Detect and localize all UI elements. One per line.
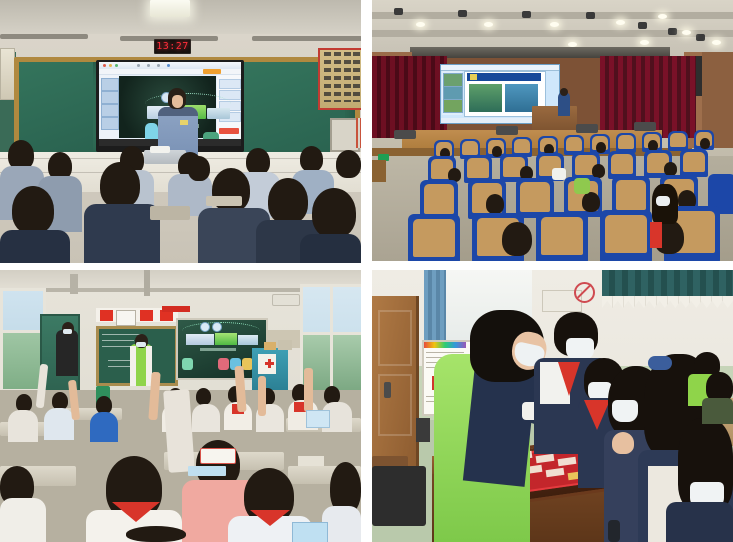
slide-subtitle bbox=[200, 348, 236, 351]
clock-value: 13:27 bbox=[156, 41, 189, 52]
banner-character bbox=[140, 310, 153, 321]
student-body bbox=[702, 398, 733, 424]
audience-head bbox=[664, 162, 677, 176]
side-table bbox=[372, 160, 386, 182]
face-mask bbox=[63, 329, 72, 334]
student-head-foreground bbox=[312, 188, 356, 238]
poster-color-bar bbox=[424, 342, 466, 348]
stage-monitor-speaker bbox=[576, 124, 598, 133]
student-body-foreground bbox=[666, 502, 733, 542]
panel-item[interactable] bbox=[219, 79, 241, 89]
seat-back bbox=[683, 152, 705, 172]
slide-thumbnail[interactable] bbox=[443, 73, 463, 87]
stage-monitor-speaker bbox=[634, 122, 656, 131]
papers-on-desk bbox=[150, 146, 170, 153]
student-body-foreground bbox=[0, 230, 70, 263]
student-hand bbox=[612, 432, 634, 454]
seat-back bbox=[467, 158, 489, 178]
chalk-writing bbox=[102, 334, 142, 335]
ceiling-light bbox=[150, 0, 190, 17]
student-head bbox=[336, 150, 361, 178]
photo-primary-classroom-hands-raised[interactable] bbox=[0, 270, 361, 542]
auditorium-scene bbox=[372, 0, 733, 261]
wall-rail-left bbox=[0, 34, 88, 39]
ceiling-speaker bbox=[638, 22, 647, 29]
student-head bbox=[188, 156, 210, 181]
leaflet bbox=[188, 466, 226, 476]
pupil-body bbox=[8, 410, 38, 442]
ceiling-band bbox=[372, 30, 733, 37]
student-head bbox=[300, 146, 323, 172]
audience-head bbox=[486, 194, 504, 214]
ceiling-speaker bbox=[458, 10, 467, 17]
face-mask bbox=[566, 338, 594, 360]
leaflet bbox=[306, 410, 330, 428]
student-body-foreground bbox=[84, 204, 160, 263]
photo-grid-page: 13:27 bbox=[0, 0, 733, 542]
wall-rail-right bbox=[252, 36, 361, 41]
pupil-body bbox=[44, 408, 74, 440]
red-scarf bbox=[650, 222, 662, 248]
window-dot-close bbox=[103, 64, 106, 67]
leaflet bbox=[292, 522, 328, 542]
taskbar-icon[interactable] bbox=[167, 64, 170, 67]
ceiling-speaker bbox=[394, 8, 403, 15]
face-mask bbox=[656, 196, 670, 206]
slide-thumbnail[interactable] bbox=[443, 99, 463, 113]
slide-thumbnail[interactable] bbox=[101, 78, 119, 91]
window-dot-min bbox=[109, 64, 112, 67]
emblem-icon bbox=[200, 322, 210, 332]
ceiling-band bbox=[372, 12, 733, 19]
ceiling-downlight bbox=[416, 22, 425, 27]
ceiling-downlight bbox=[658, 14, 667, 19]
student-head-foreground bbox=[100, 162, 140, 208]
student-body-foreground bbox=[300, 234, 361, 263]
emblem-icon bbox=[212, 322, 222, 332]
seat-back bbox=[611, 154, 633, 174]
photo-auditorium-assembly[interactable] bbox=[372, 0, 733, 261]
seat-back bbox=[462, 141, 478, 155]
taskbar-icon[interactable] bbox=[147, 64, 150, 67]
window-curtain-right bbox=[602, 270, 733, 298]
slide-figure bbox=[218, 358, 229, 370]
pupil-head bbox=[196, 388, 211, 405]
ceiling-fitting bbox=[70, 274, 78, 294]
ceiling-speaker bbox=[668, 28, 677, 35]
poster-text-column bbox=[344, 52, 351, 102]
banner-character bbox=[100, 310, 113, 321]
ceiling-downlight bbox=[682, 30, 691, 35]
slide-title-part3 bbox=[207, 108, 230, 119]
raised-arm bbox=[304, 368, 313, 412]
primary-action-button[interactable] bbox=[219, 128, 239, 134]
classroom-scene: 13:27 bbox=[0, 0, 361, 263]
student-head-foreground bbox=[12, 186, 54, 234]
digital-wall-clock: 13:27 bbox=[154, 39, 191, 54]
seat-back bbox=[541, 217, 583, 255]
slide-photo-left bbox=[469, 84, 502, 112]
toolbar-action-button[interactable] bbox=[203, 69, 221, 74]
taskbar-icon[interactable] bbox=[137, 64, 140, 67]
ceiling-speaker bbox=[696, 34, 705, 41]
microphone bbox=[608, 520, 620, 542]
ceiling-projector bbox=[272, 294, 300, 306]
photo-display-case-demonstration[interactable] bbox=[372, 270, 733, 542]
ceiling-downlight bbox=[484, 22, 493, 27]
wall-wiring bbox=[356, 118, 361, 148]
wall-notice bbox=[116, 310, 136, 326]
slide-thumbnail[interactable] bbox=[101, 91, 119, 104]
slide-thumbnail[interactable] bbox=[101, 117, 119, 130]
slide-title-part3 bbox=[238, 335, 258, 345]
ceiling-speaker bbox=[522, 11, 531, 18]
waste-bin bbox=[416, 418, 430, 442]
seat-back bbox=[514, 139, 530, 153]
pencil-case bbox=[200, 448, 236, 464]
slide-title-part1 bbox=[186, 334, 214, 345]
face-mask bbox=[136, 342, 146, 347]
audience-head bbox=[582, 192, 600, 212]
pupil-body bbox=[192, 404, 220, 432]
audience-shirt bbox=[574, 178, 590, 194]
uniform-badge bbox=[180, 120, 188, 125]
ceiling-downlight bbox=[640, 40, 649, 45]
first-aid-cross-icon bbox=[268, 359, 271, 368]
chair bbox=[372, 466, 426, 526]
audience-shirt bbox=[552, 168, 566, 180]
seat-back bbox=[616, 180, 646, 210]
slide-figure bbox=[182, 358, 193, 370]
banner-strip bbox=[162, 306, 190, 312]
slide-thumbnail[interactable] bbox=[443, 86, 463, 100]
no-smoking-icon bbox=[574, 282, 595, 303]
chalk-writing bbox=[102, 340, 134, 341]
volunteer-sleeve bbox=[130, 346, 136, 386]
seat-back bbox=[424, 184, 454, 214]
audience-head bbox=[592, 164, 605, 178]
student-desk bbox=[150, 206, 190, 220]
ceiling-downlight bbox=[616, 20, 625, 25]
ceiling-downlight bbox=[550, 22, 559, 27]
police-officer-face bbox=[172, 95, 183, 108]
hair-tie bbox=[648, 356, 672, 370]
slide-title-part2 bbox=[215, 333, 237, 345]
taskbar-icon[interactable] bbox=[157, 64, 160, 67]
raised-arm bbox=[258, 376, 266, 416]
storage-box bbox=[264, 342, 276, 350]
poster-text-column bbox=[334, 52, 341, 102]
ceiling-speaker bbox=[586, 12, 595, 19]
primary-classroom-scene bbox=[0, 270, 361, 542]
seat-back bbox=[566, 137, 582, 151]
storage-box bbox=[278, 340, 292, 350]
door-panel bbox=[378, 310, 412, 366]
poster-text-line bbox=[426, 352, 464, 353]
pupil-body-foreground bbox=[0, 498, 46, 542]
student-head bbox=[246, 148, 270, 175]
audience-head bbox=[700, 138, 710, 149]
pupil-body bbox=[90, 412, 118, 442]
window-dot-max bbox=[115, 64, 118, 67]
podium bbox=[532, 106, 577, 132]
stage-monitor-speaker bbox=[496, 126, 518, 135]
blackboard-left-panel bbox=[19, 62, 93, 150]
student-desk bbox=[206, 196, 242, 206]
seat-back bbox=[520, 182, 550, 212]
face-mask bbox=[612, 400, 638, 422]
emblem-icon bbox=[470, 74, 477, 80]
worksheet bbox=[298, 456, 324, 466]
ceiling-rod bbox=[144, 270, 150, 296]
seat-back bbox=[618, 135, 634, 149]
slide-title-bar bbox=[467, 73, 541, 81]
pupil-head-foreground bbox=[126, 526, 186, 542]
seat-back bbox=[605, 215, 647, 253]
stage-monitor-speaker bbox=[394, 130, 416, 139]
poster-text-column bbox=[324, 52, 331, 102]
ceiling-downlight bbox=[712, 40, 721, 45]
speaker-head bbox=[560, 88, 568, 96]
teacher-body bbox=[56, 330, 78, 376]
photo-classroom-police-lecture[interactable]: 13:27 bbox=[0, 0, 361, 263]
seat-back bbox=[413, 219, 455, 257]
seat-back bbox=[670, 133, 686, 147]
poster-text-column bbox=[353, 52, 360, 102]
stage-curtain-left bbox=[372, 56, 447, 138]
audience-head-foreground bbox=[502, 222, 532, 256]
display-demo-scene bbox=[372, 270, 733, 542]
audience-head bbox=[596, 142, 606, 153]
student-head-foreground bbox=[268, 178, 308, 224]
slide-thumbnail[interactable] bbox=[101, 104, 119, 117]
door-handle[interactable] bbox=[384, 382, 391, 398]
left-wall-poster bbox=[0, 48, 15, 100]
